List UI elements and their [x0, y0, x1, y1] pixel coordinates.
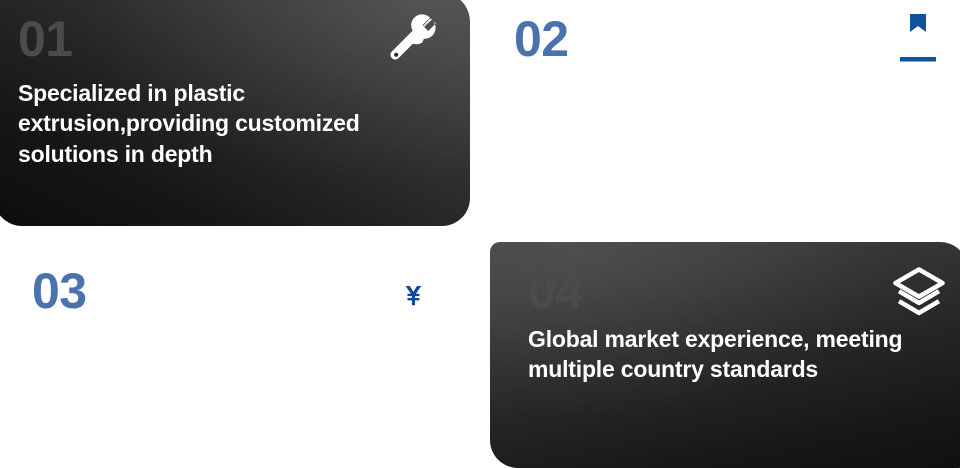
- feature-card-01[interactable]: 01 Specialized in plastic extrusion,prov…: [0, 0, 470, 226]
- card-body: 02 Core components are processed indepen…: [490, 0, 960, 226]
- card-body: 03 Intelligence and Efficient Production: [0, 242, 472, 468]
- card-title: Global market experience, meeting multip…: [528, 324, 942, 385]
- card-title: Core components are processed independen…: [514, 78, 934, 169]
- bookmark-book-icon: [886, 12, 944, 70]
- feature-card-03[interactable]: 03 Intelligence and Efficient Production: [0, 242, 472, 468]
- feature-card-02[interactable]: 02 Core components are processed indepen…: [490, 0, 960, 226]
- card-number: 02: [514, 14, 942, 64]
- money-bag-yen-icon: [380, 262, 438, 320]
- card-number: 01: [18, 14, 444, 64]
- card-title: Specialized in plastic extrusion,providi…: [18, 78, 438, 169]
- layers-stack-icon: [890, 264, 948, 322]
- wrench-icon: [384, 14, 442, 72]
- card-body: 01 Specialized in plastic extrusion,prov…: [0, 0, 470, 226]
- feature-card-grid: 01 Specialized in plastic extrusion,prov…: [0, 0, 960, 459]
- card-body: 04 Global market experience, meeting mul…: [490, 242, 960, 468]
- card-title: Intelligence and Efficient Production: [32, 326, 412, 387]
- card-number: 04: [528, 266, 942, 316]
- feature-card-04[interactable]: 04 Global market experience, meeting mul…: [490, 242, 960, 468]
